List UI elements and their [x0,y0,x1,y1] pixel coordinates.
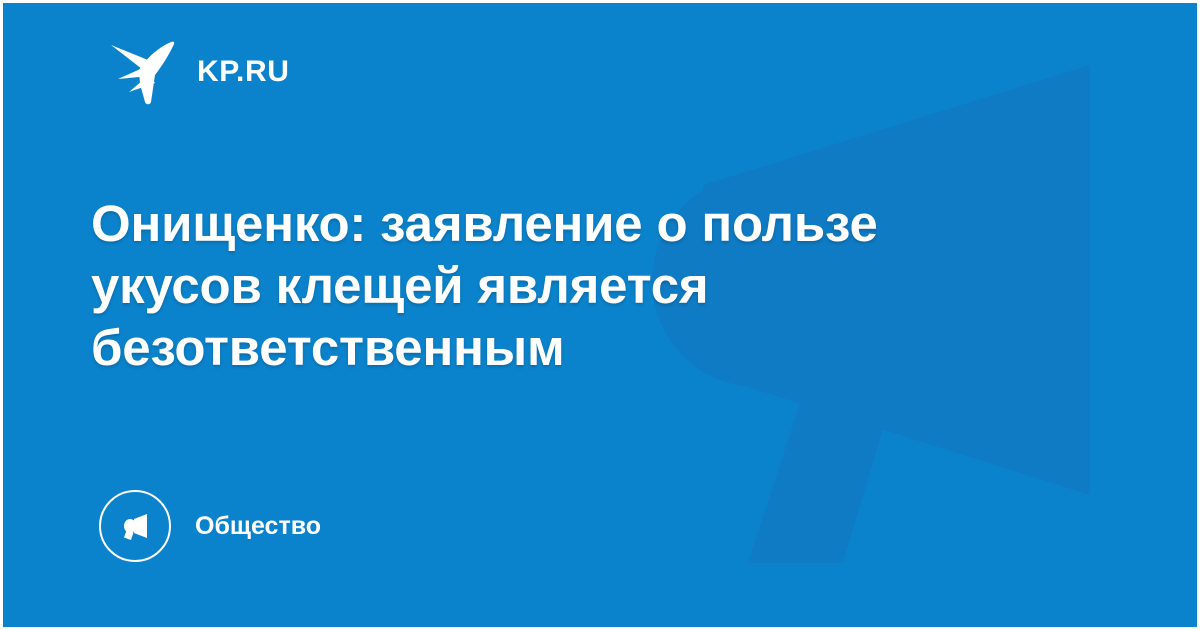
brand-logo[interactable]: KP.RU [109,39,289,105]
category-label: Общество [195,514,321,539]
card-background: KP.RU Онищенко: заявление о пользе укусо… [3,3,1197,627]
category-badge[interactable]: Общество [99,490,321,562]
share-card: KP.RU Онищенко: заявление о пользе укусо… [0,0,1200,630]
title-line-1: Онищенко: заявление о пользе [91,193,1041,255]
category-icon-circle [99,490,171,562]
page-title: Онищенко: заявление о пользе укусов клещ… [91,193,1041,379]
title-line-2: укусов клещей является [91,255,1041,317]
megaphone-icon [115,506,155,546]
swallow-bird-icon [109,39,181,105]
brand-name: KP.RU [197,57,289,87]
title-line-3: безответственным [91,317,1041,379]
